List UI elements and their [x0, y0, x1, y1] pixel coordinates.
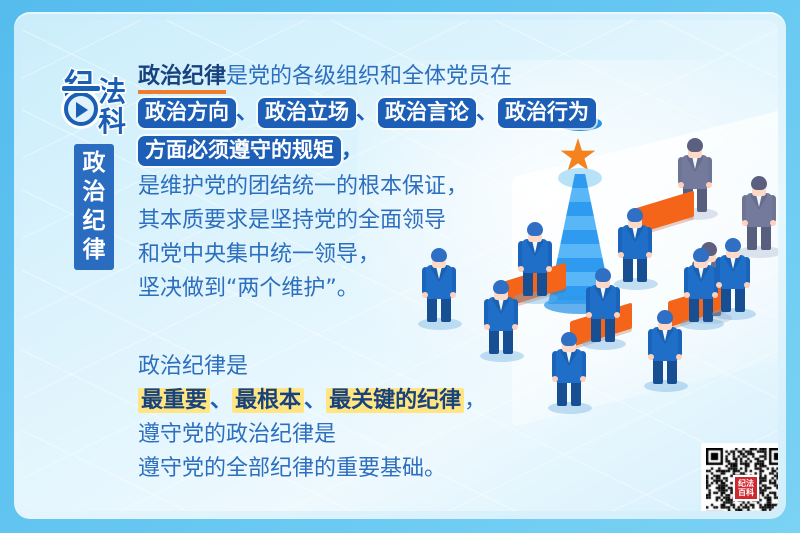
highlight-most-critical: 最关键的纪律 — [326, 388, 464, 413]
pill-separator: 、 — [476, 100, 498, 125]
figure-leg-left — [557, 381, 567, 406]
figure-head — [751, 176, 767, 190]
figure-head — [687, 138, 703, 152]
figure-head — [627, 208, 643, 222]
figure-leg-right — [667, 359, 677, 384]
figure-hand-left — [678, 182, 684, 188]
figure-hand-right — [646, 252, 652, 258]
poster-root: 纪 法 科 政 治 纪 律 政治纪律是党的各级组织和全体党员在 — [0, 0, 800, 533]
line-3-tail: ， — [341, 138, 363, 163]
figure-leg-left — [591, 317, 601, 342]
figure-hand-left — [586, 312, 592, 318]
pill-political-stance: 政治立场 — [258, 98, 356, 128]
highlight-most-important: 最重要 — [138, 388, 210, 413]
lower-line-3: 遵守党的政治纪律是 — [138, 418, 558, 452]
figure-shadow — [644, 380, 688, 392]
figure-hand-left — [648, 354, 654, 360]
lower-line-4: 遵守党的全部纪律的重要基础。 — [138, 452, 558, 486]
text-line-1: 政治纪律是党的各级组织和全体党员在 — [138, 60, 608, 94]
figure-hand-right — [580, 376, 586, 382]
text-line-2: 政治方向、政治立场、政治言论、政治行为 — [138, 94, 608, 132]
figure-leg-right — [735, 287, 745, 312]
figure-leg-right — [637, 257, 647, 282]
vertical-title-char-2: 治 — [83, 178, 106, 207]
pill-separator: 、 — [236, 100, 258, 125]
text-line-1-rest: 是党的各级组织和全体党员在 — [226, 64, 512, 89]
logo-char-bai-bar-icon — [62, 86, 100, 91]
pill-political-direction: 政治方向 — [138, 98, 236, 128]
figure-leg-right — [703, 297, 713, 322]
text-line-7: 坚决做到“两个维护”。 — [138, 272, 608, 306]
poster-panel-inner: 纪 法 科 政 治 纪 律 政治纪律是党的各级组织和全体党员在 — [22, 20, 778, 511]
highlight-separator: 、 — [304, 388, 326, 413]
figure-head — [657, 310, 673, 324]
figure-hand-right — [614, 312, 620, 318]
vertical-title-char-3: 纪 — [83, 207, 106, 236]
figure-hand-right — [744, 282, 750, 288]
figure-leg-left — [689, 297, 699, 322]
figure-hand-right — [706, 182, 712, 188]
figure-head — [725, 238, 741, 252]
lower-line-1: 政治纪律是 — [138, 350, 558, 384]
vertical-title-char-1: 政 — [83, 149, 106, 178]
figure-shadow — [614, 278, 658, 290]
figure-hand-left — [716, 282, 722, 288]
text-line-3: 方面必须遵守的规矩， — [138, 132, 608, 170]
figure-head — [561, 332, 577, 346]
figure-hand-right — [770, 220, 776, 226]
vertical-title-char-4: 律 — [83, 236, 106, 265]
pill-rules-to-observe: 方面必须遵守的规矩 — [138, 136, 341, 166]
main-text-block: 政治纪律是党的各级组织和全体党员在 政治方向、政治立场、政治言论、政治行为 方面… — [138, 60, 608, 306]
highlight-most-fundamental: 最根本 — [232, 388, 304, 413]
poster-panel: 纪 法 科 政 治 纪 律 政治纪律是党的各级组织和全体党员在 — [14, 12, 786, 519]
blue-figure — [716, 238, 750, 312]
figure-leg-left — [653, 359, 663, 384]
figure-leg-left — [623, 257, 633, 282]
highlight-separator: 、 — [210, 388, 232, 413]
text-line-4: 是维护党的团结统一的根本保证， — [138, 170, 608, 204]
blue-figure — [648, 310, 682, 384]
figure-shadow — [418, 318, 462, 330]
figure-leg-right — [571, 381, 581, 406]
lower-line-2-tail: ， — [464, 388, 486, 413]
figure-hand-left — [684, 292, 690, 298]
figure-leg-left — [721, 287, 731, 312]
qr-code-box[interactable]: 纪法百科 — [702, 444, 778, 511]
logo-char-ke: 科 — [98, 100, 126, 140]
lower-text-block: 政治纪律是 最重要、最根本、最关键的纪律， 遵守党的政治纪律是 遵守党的全部纪律… — [138, 350, 558, 486]
figure-shadow — [680, 318, 724, 330]
figure-hand-left — [618, 252, 624, 258]
play-icon — [76, 102, 88, 118]
qr-center-logo: 纪法百科 — [733, 475, 759, 501]
blue-figure — [618, 208, 652, 282]
figure-hand-left — [484, 324, 490, 330]
figure-hand-right — [512, 324, 518, 330]
figure-leg-right — [605, 317, 615, 342]
figure-hand-right — [676, 354, 682, 360]
qr-code[interactable]: 纪法百科 — [706, 448, 778, 511]
text-line-5: 其本质要求是坚持党的全面领导 — [138, 204, 608, 238]
figure-head — [693, 248, 709, 262]
lead-term: 政治纪律 — [138, 64, 226, 94]
vertical-title-banner: 政 治 纪 律 — [74, 144, 114, 270]
figure-shadow — [712, 308, 756, 320]
pill-separator: 、 — [356, 100, 378, 125]
text-line-6: 和党中央集中统一领导， — [138, 238, 608, 272]
pill-political-speech: 政治言论 — [378, 98, 476, 128]
figure-shadow — [582, 338, 626, 350]
figure-hand-left — [742, 220, 748, 226]
figure-leg-right — [697, 187, 707, 212]
lower-line-2: 最重要、最根本、最关键的纪律， — [138, 384, 558, 418]
figure-leg-right — [761, 225, 771, 250]
pill-political-conduct: 政治行为 — [498, 98, 596, 128]
